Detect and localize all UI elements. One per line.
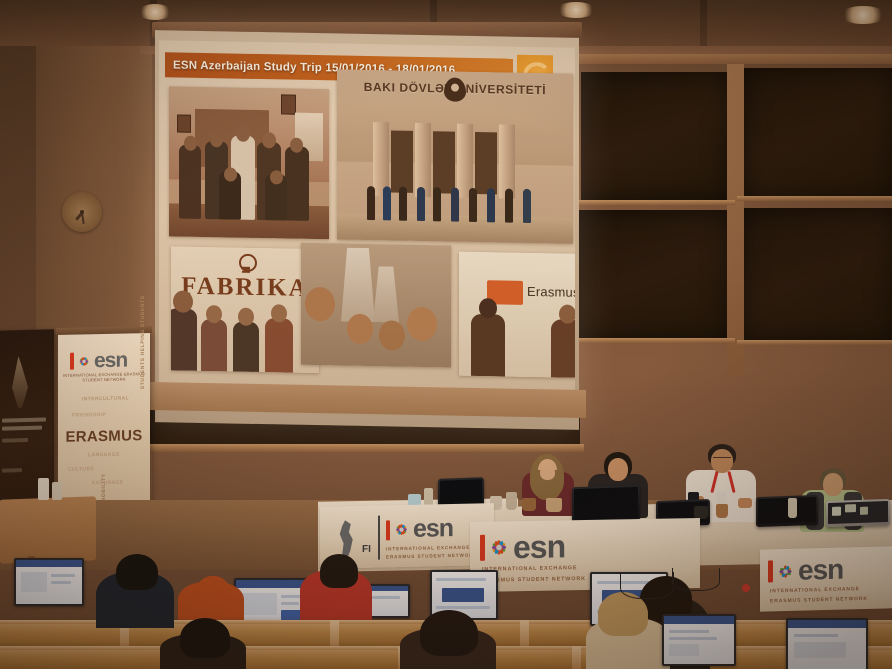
photo-face (347, 314, 373, 344)
photo-person (505, 189, 513, 223)
esn-logo: esn (386, 516, 453, 542)
audience-head (180, 618, 230, 658)
photo-person (523, 189, 531, 223)
photo-person (469, 188, 477, 222)
name-badge (717, 492, 726, 504)
esn-starburst-icon (76, 353, 92, 369)
photo-person-head (173, 290, 193, 312)
projection-screen: ESN Azerbaijan Study Trip 15/01/2016 - 1… (155, 30, 579, 430)
presentation-slide: ESN Azerbaijan Study Trip 15/01/2016 - 1… (159, 40, 575, 394)
audience-laptop[interactable] (662, 614, 736, 666)
photo-person-head (184, 136, 197, 151)
laptop[interactable] (572, 485, 640, 523)
photo-column (499, 124, 515, 198)
esn-rollup-vertical-left: MOBILITY (101, 473, 107, 502)
photo-person-head (210, 132, 223, 147)
chalk-ledge (575, 200, 735, 205)
esn-starburst-icon (392, 520, 411, 539)
esn-logo-text: esn (413, 516, 453, 542)
slide-photo-group-indoors (169, 86, 329, 239)
photo-person (383, 186, 391, 220)
ceiling-light (556, 2, 596, 18)
ceiling-beam (700, 0, 707, 46)
conference-photo-scene: ESN Azerbaijan Study Trip 15/01/2016 - 1… (0, 0, 892, 669)
photo-column (373, 122, 389, 196)
chalk-ledge (737, 340, 892, 345)
photo-person-head (479, 298, 497, 318)
panelist-head (608, 458, 628, 481)
photo-doorway (433, 131, 455, 193)
plush-toy (546, 498, 562, 512)
clock-center (80, 210, 84, 214)
lightbulb-icon (237, 254, 255, 274)
photo-person-head (270, 170, 283, 184)
laptop-screen (758, 497, 816, 524)
blackboard-panel (741, 208, 892, 342)
screen-content (664, 616, 734, 664)
ceiling-light (840, 6, 886, 24)
esn-logo: esn (70, 350, 127, 372)
esn-rollup-tagline: INTERNATIONAL EXCHANGE ERASMUS STUDENT N… (58, 371, 150, 384)
photo-person-head (236, 126, 250, 142)
blackboard-grid (575, 60, 892, 390)
photo-person (201, 319, 227, 371)
jyu-line-2 (2, 426, 42, 431)
audience-head (196, 576, 230, 608)
cup (506, 492, 517, 510)
esn-cloud-word: EXCHANGE (92, 480, 124, 487)
chalk-ledge (737, 196, 892, 201)
esn-logo-bar (386, 520, 390, 540)
erasmus-plus-label: Erasmus + (527, 284, 575, 300)
photo-person (487, 188, 495, 222)
cup (716, 504, 728, 518)
photo-face (407, 307, 437, 342)
photo-doorway (475, 132, 497, 194)
jyu-line-3 (2, 438, 28, 443)
paper-cup (38, 478, 49, 500)
photo-person-head (206, 305, 222, 323)
photo-university-emblem (444, 77, 466, 101)
laptop-sticker (845, 504, 856, 512)
wall-clock (62, 192, 102, 232)
photo-person-head (262, 132, 276, 148)
photo-face (379, 320, 405, 350)
cable (672, 568, 720, 591)
esn-rollup-vertical-right: STUDENTS HELPING STUDENTS (140, 295, 146, 389)
blackboard-panel (743, 68, 892, 200)
indicator-light (742, 584, 750, 592)
photo-wall-frame (177, 115, 191, 133)
audience-laptop[interactable] (14, 558, 84, 606)
photo-person (433, 187, 441, 221)
screen-content (788, 620, 866, 669)
esn-cloud-word: INTERCULTURAL (82, 395, 129, 402)
photo-person-head (559, 305, 575, 324)
esn-cloud-word: LANGUAGE (88, 452, 120, 459)
photo-fabrika-sign: FABRIKA (171, 272, 319, 303)
jyu-line-1 (2, 417, 46, 422)
lightbulb-base (242, 270, 250, 272)
esn-rollup-headline: ERASMUS (58, 427, 150, 446)
laptop-with-stickers[interactable] (826, 499, 890, 527)
screen-content (16, 560, 82, 604)
lightbulb-base (242, 267, 250, 270)
slide-photo-night-selfie (301, 243, 451, 368)
photo-person (265, 318, 293, 373)
esn-logo-bar (70, 353, 74, 370)
presenter-hand (738, 498, 752, 508)
blackboard-panel (579, 210, 729, 340)
cable (620, 572, 674, 599)
panelist-face (540, 466, 555, 480)
glasses-icon (713, 457, 731, 462)
photo-person-head (224, 167, 237, 181)
audience-head (320, 554, 358, 588)
chalk-ledge (148, 444, 584, 452)
photo-person-head (238, 308, 254, 326)
photo-person (551, 319, 575, 378)
audience-head (420, 610, 478, 656)
screen-content (368, 586, 408, 616)
mug (522, 498, 536, 511)
panelist-head (823, 473, 843, 496)
photo-column (415, 123, 431, 197)
desk-divider (330, 620, 339, 648)
audience-head (116, 554, 158, 590)
blackboard-top-trim (575, 54, 892, 64)
paper-cup (52, 482, 62, 500)
photo-person (471, 314, 505, 377)
jyu-url (2, 468, 22, 473)
esn-cloud-word: FRIENDSHIP (72, 412, 106, 419)
photo-person (233, 322, 259, 372)
desk-divider (520, 620, 529, 648)
photo-person (399, 187, 407, 221)
rollup-top-rail (56, 326, 152, 335)
photo-wall-frame (281, 94, 296, 114)
photo-person (417, 187, 425, 221)
desk-divider (572, 646, 581, 669)
photo-person (451, 188, 459, 222)
photo-person (179, 145, 201, 219)
blackboard-panel (581, 72, 729, 200)
ceiling-light (138, 4, 172, 20)
slide-photo-university: BAKI DÖVLƏT UNİVERSİTETİ (337, 69, 573, 243)
bottle (788, 498, 797, 518)
laptop-screen (574, 487, 638, 520)
laptop-sticker (860, 507, 868, 515)
esn-cloud-word: CULTURE (68, 466, 94, 473)
laptop[interactable] (756, 495, 818, 527)
laptop-sticker (832, 507, 841, 516)
left-wall-panel (0, 0, 36, 330)
photo-person-head (271, 304, 287, 322)
slide-photo-fabrika: FABRIKA (171, 246, 319, 373)
esn-logo-text: esn (94, 350, 127, 372)
audience-laptop[interactable] (366, 584, 410, 618)
photo-doorway (391, 130, 413, 192)
photo-column (457, 124, 473, 198)
audience-area (0, 548, 892, 669)
blackboard-divider (727, 60, 744, 376)
slide-photo-erasmus-plus: Erasmus + (459, 252, 575, 379)
photo-person (367, 186, 375, 220)
photo-face (305, 287, 335, 322)
photo-person (171, 308, 197, 371)
jyu-torch-icon (12, 356, 28, 408)
chalk-ledge (575, 338, 735, 343)
photo-person-head (290, 138, 303, 153)
audience-laptop[interactable] (786, 618, 868, 669)
photo-person (285, 146, 309, 220)
